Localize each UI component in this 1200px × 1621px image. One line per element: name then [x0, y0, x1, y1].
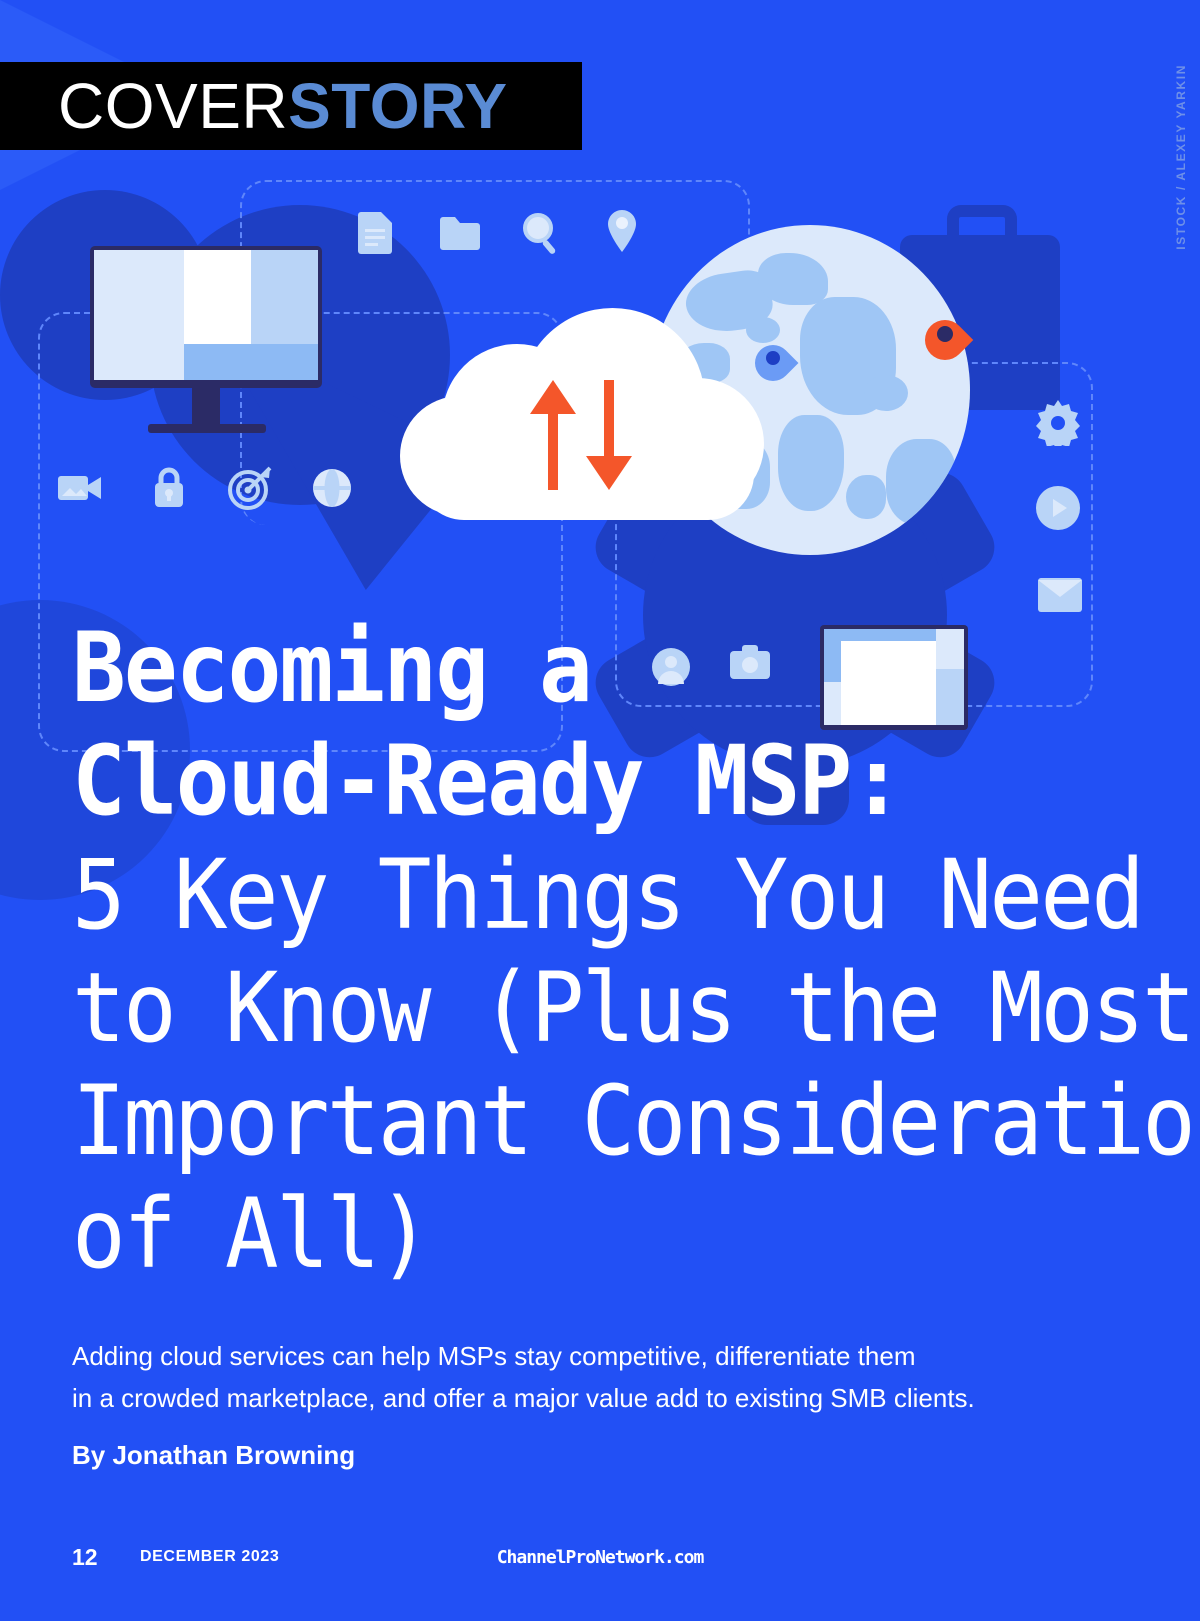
headline-line-4: to Know (Plus the Most	[72, 952, 1058, 1065]
target-icon	[228, 466, 272, 510]
cover-story-banner: COVERSTORY	[0, 62, 582, 150]
deck-line-2: in a crowded marketplace, and offer a ma…	[72, 1377, 1032, 1419]
headline-line-1: Becoming a	[72, 612, 1058, 725]
article-deck: Adding cloud services can help MSPs stay…	[72, 1335, 1032, 1419]
gear-icon	[1035, 400, 1081, 446]
lock-icon	[152, 466, 186, 508]
headline-line-6: of All)	[72, 1178, 1058, 1291]
map-pin-icon	[608, 210, 636, 252]
byline: By Jonathan Browning	[72, 1440, 355, 1471]
headline-line-2: Cloud-Ready MSP:	[72, 725, 1058, 838]
monitor-neck	[192, 388, 220, 426]
document-icon	[358, 212, 392, 254]
page-title: Becoming a Cloud-Ready MSP: 5 Key Things…	[72, 612, 1132, 1292]
upload-arrow-icon	[530, 380, 576, 490]
headline-line-5: Important Consideration	[72, 1065, 1058, 1178]
headline-line-3: 5 Key Things You Need	[72, 839, 1058, 952]
photo-credit: ISTOCK / ALEXEY YARKIN	[1174, 64, 1188, 250]
globe-small-icon	[312, 466, 352, 510]
search-icon	[522, 212, 562, 254]
monitor-foot	[148, 424, 266, 433]
banner-word-story: STORY	[288, 70, 507, 142]
page-footer: 12 DECEMBER 2023 ChannelProNetwork.com	[0, 1544, 1200, 1584]
banner-text: COVERSTORY	[0, 74, 508, 138]
banner-word-cover: COVER	[58, 70, 288, 142]
map-pin-orange	[925, 320, 965, 360]
deck-line-1: Adding cloud services can help MSPs stay…	[72, 1335, 1032, 1377]
desktop-monitor	[90, 246, 322, 388]
folder-icon	[440, 216, 480, 250]
envelope-icon	[1038, 578, 1082, 612]
video-camera-icon	[58, 472, 102, 504]
magazine-cover-page: COVERSTORY ISTOCK / ALEXEY YARKIN Becomi…	[0, 0, 1200, 1621]
play-button-icon	[1036, 486, 1080, 530]
cloud-sync-arrows	[530, 380, 640, 490]
footer-website[interactable]: ChannelProNetwork.com	[0, 1547, 1200, 1568]
download-arrow-icon	[586, 380, 632, 490]
